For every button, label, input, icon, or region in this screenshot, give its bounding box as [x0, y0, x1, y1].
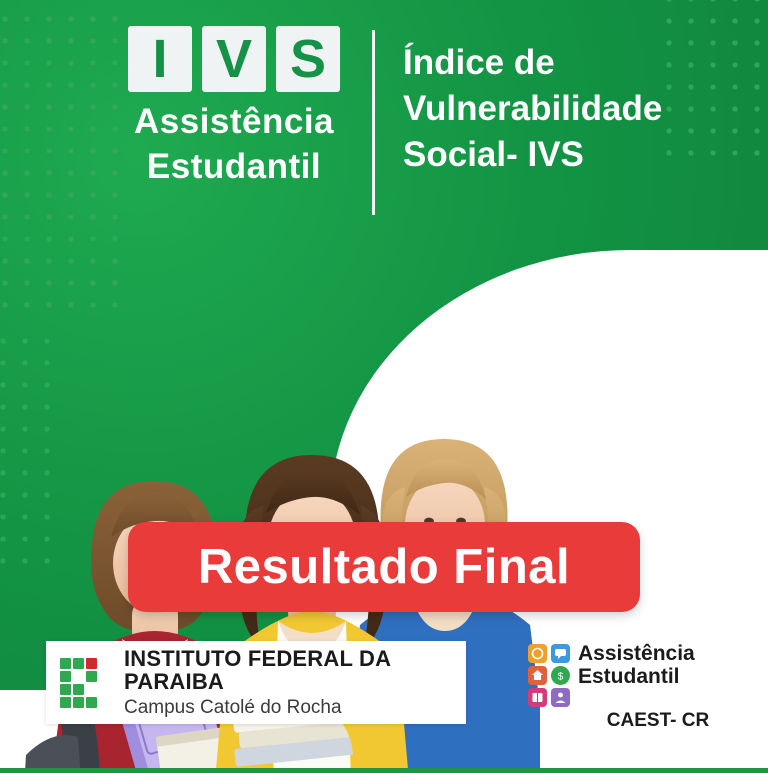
caest-line2: Estudantil — [578, 665, 695, 688]
ifpb-logo-mark — [60, 658, 112, 708]
header: I V S Assistência Estudantil Índice de V… — [0, 26, 768, 226]
people-icon — [551, 688, 570, 707]
caest-line1: Assistência — [578, 642, 695, 665]
header-title-line3: Social- IVS — [403, 132, 768, 178]
caest-logo-row: $ Assistência Estudantil — [528, 640, 748, 707]
header-subtitle-line1: Assistência — [96, 100, 372, 145]
ivs-letter-i: I — [128, 26, 192, 92]
caest-line3: CAEST- CR — [528, 710, 748, 732]
ifpb-logo: INSTITUTO FEDERAL DA PARAIBA Campus Cato… — [46, 641, 466, 724]
ivs-letter-v: V — [202, 26, 266, 92]
ifpb-institution-name: INSTITUTO FEDERAL DA PARAIBA — [124, 647, 466, 693]
ivs-letter-s: S — [276, 26, 340, 92]
ifpb-logo-text: INSTITUTO FEDERAL DA PARAIBA Campus Cato… — [124, 647, 466, 718]
book-icon — [528, 688, 547, 707]
money-icon: $ — [551, 666, 570, 685]
caest-icon-grid: $ — [528, 644, 572, 707]
caest-logo-text: Assistência Estudantil — [578, 640, 695, 688]
chat-bubble-icon — [551, 644, 570, 663]
house-icon — [528, 666, 547, 685]
header-divider — [372, 30, 375, 215]
caest-logo: $ Assistência Estudantil CAEST- CR — [528, 640, 748, 735]
plate-icon — [528, 644, 547, 663]
header-subtitle-line2: Estudantil — [96, 145, 372, 190]
ivs-acronym: I V S — [96, 26, 372, 92]
result-banner: Resultado Final — [128, 522, 640, 612]
header-right-block: Índice de Vulnerabilidade Social- IVS — [375, 26, 768, 179]
header-left-block: I V S Assistência Estudantil — [0, 26, 372, 190]
svg-text:$: $ — [558, 672, 564, 683]
header-title-line2: Vulnerabilidade — [403, 86, 768, 132]
result-banner-label: Resultado Final — [198, 539, 570, 595]
ifpb-campus-name: Campus Catolé do Rocha — [124, 698, 466, 718]
header-title-line1: Índice de — [403, 40, 768, 86]
